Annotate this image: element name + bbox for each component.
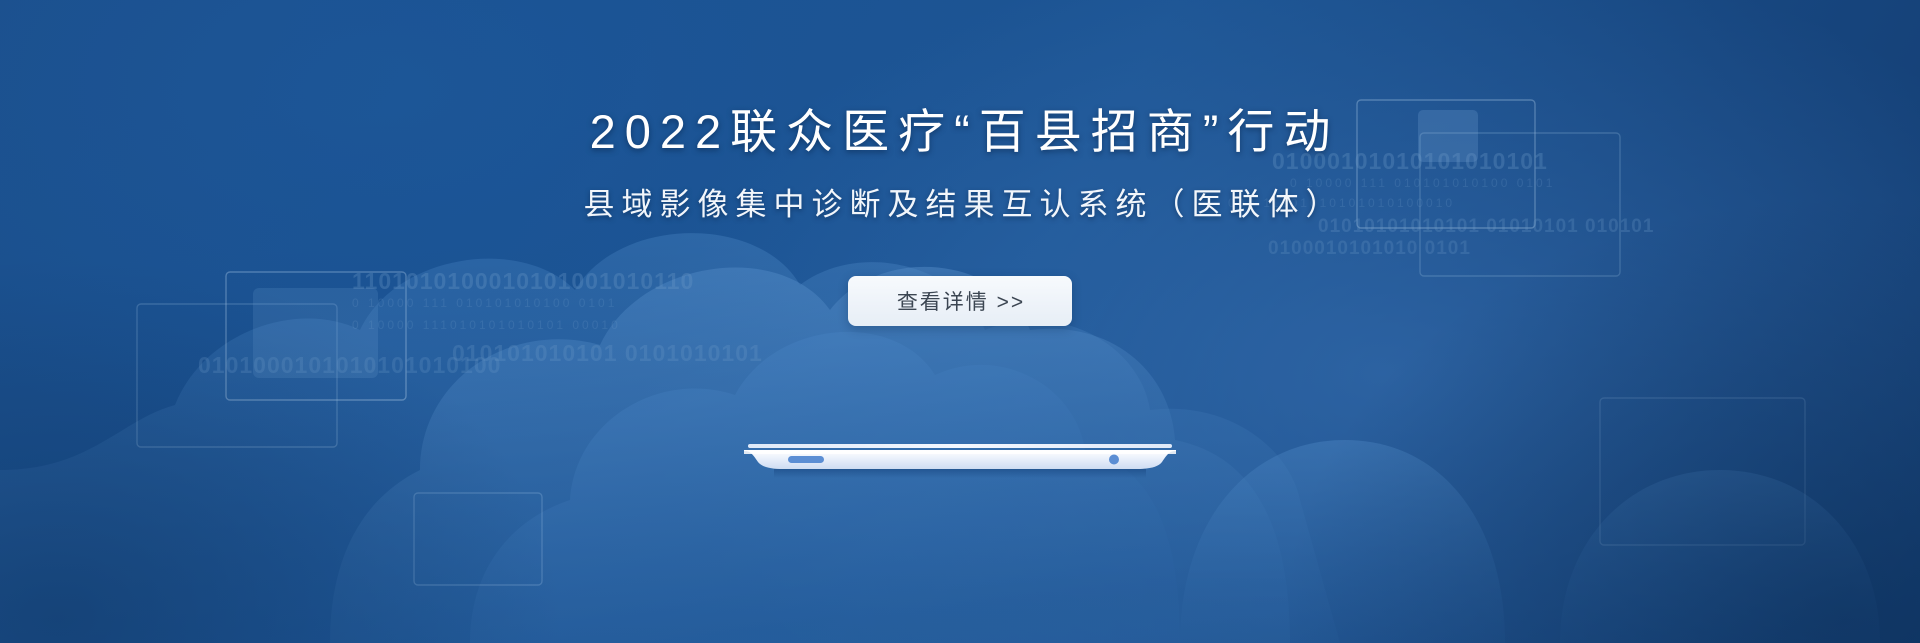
laptop-shadow — [774, 469, 1146, 478]
speaker-grille-icon — [788, 456, 824, 463]
view-details-button[interactable]: 查看详情 >> — [848, 276, 1072, 326]
banner-content: 2022联众医疗“百县招商”行动 县域影像集中诊断及结果互认系统（医联体） 查看… — [0, 0, 1920, 643]
banner-subtitle: 县域影像集中诊断及结果互认系统（医联体） — [577, 189, 1344, 220]
cta-container: 查看详情 >> — [848, 276, 1072, 326]
banner-title: 2022联众医疗“百县招商”行动 — [581, 108, 1340, 155]
laptop-deck-highlight — [744, 451, 1176, 454]
promo-banner: 1101010100010101001010110 0 10000 111 01… — [0, 0, 1920, 643]
camera-dot-icon — [1109, 455, 1119, 465]
laptop-top-lip — [748, 444, 1172, 448]
laptop-base-graphic — [744, 444, 1176, 478]
